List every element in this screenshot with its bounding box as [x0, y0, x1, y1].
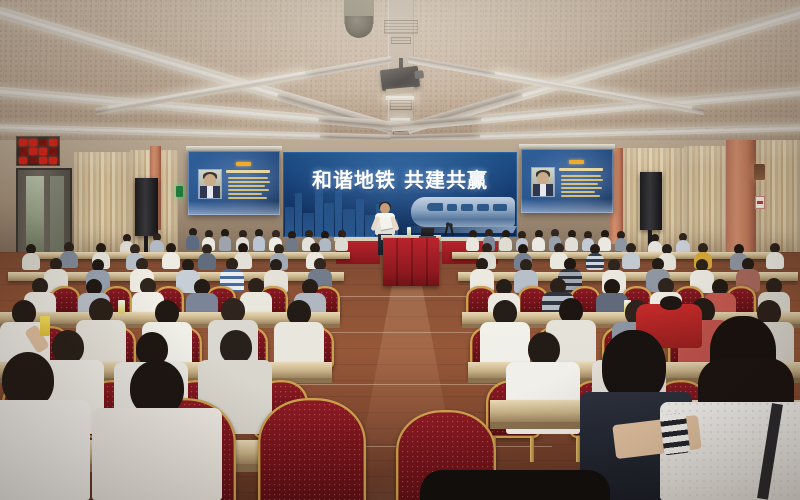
- laptop-base: [419, 236, 436, 238]
- skyline-building: [356, 199, 364, 237]
- torso: [335, 237, 348, 251]
- slide-subtitle-right: [559, 168, 603, 171]
- head: [528, 332, 560, 366]
- metro-window: [427, 203, 443, 211]
- metro-train-body: [411, 197, 515, 227]
- slide-body-line: [228, 197, 267, 199]
- audience-member: [274, 300, 324, 368]
- torso: [253, 236, 265, 251]
- slide-portrait-photo-left: [199, 170, 221, 198]
- loudspeaker-left: [135, 178, 158, 236]
- torso: [92, 408, 222, 500]
- led-segment: [29, 157, 37, 164]
- portrait-shirt: [540, 184, 546, 196]
- audience-member: [766, 243, 784, 269]
- led-segment: [19, 139, 27, 146]
- metro-window: [447, 204, 457, 211]
- laptop-screen: [421, 228, 435, 236]
- led-segment: [19, 148, 27, 155]
- slide-subtitle-left: [226, 170, 270, 173]
- metro-window: [461, 204, 473, 211]
- chair-back: [258, 398, 366, 500]
- audience-member-foreground-silhouette: [420, 470, 610, 500]
- slide-title-left: [236, 162, 251, 166]
- audience-member-foreground-left: [0, 352, 90, 500]
- metro-window: [477, 204, 489, 211]
- audience-member: [219, 229, 231, 251]
- led-segment: [39, 148, 47, 155]
- slide-title-right: [569, 160, 584, 164]
- head: [660, 296, 682, 310]
- table-row-far-right: [452, 252, 772, 259]
- audience-member-foreground-center: [92, 360, 222, 500]
- led-segment: [39, 157, 47, 164]
- torso: [499, 237, 512, 251]
- projection-screen-right: [521, 149, 613, 213]
- exit-indicator-icon: [176, 186, 183, 197]
- portrait-face: [204, 174, 216, 187]
- led-segment: [29, 139, 37, 146]
- slide-body-line: [561, 191, 595, 193]
- led-row-3: [19, 157, 57, 164]
- aisle-seam: [320, 332, 492, 333]
- skirt-fold: [426, 238, 428, 286]
- led-row-1: [19, 139, 57, 146]
- conference-hall-photo: 和谐地铁 共建共赢: [0, 0, 800, 500]
- banquet-chair-foreground[interactable]: [258, 398, 366, 500]
- torso: [219, 236, 231, 251]
- slide-body-line: [561, 175, 601, 177]
- led-row-2: [19, 148, 57, 155]
- torso: [22, 253, 40, 270]
- skirt-fold: [396, 238, 398, 286]
- slide-body-line: [561, 183, 598, 185]
- slide-body-line: [228, 177, 268, 179]
- torso: [766, 252, 784, 269]
- torso: [532, 237, 545, 251]
- skirt-fold: [411, 238, 413, 286]
- slide-body-line: [561, 195, 600, 197]
- table-row-far-left: [30, 252, 350, 259]
- banner-headline: 和谐地铁 共建共赢: [283, 164, 517, 193]
- ceiling-shading: [0, 0, 800, 152]
- audience-member: [532, 230, 545, 251]
- led-segment: [49, 139, 57, 146]
- led-segment: [29, 148, 37, 155]
- audience-member-foreground-woman: [660, 316, 800, 500]
- slide-body-line: [561, 179, 603, 181]
- sleeve-stripe: [660, 413, 691, 456]
- aisle-seam: [340, 296, 470, 297]
- led-sign: [16, 136, 60, 166]
- head: [220, 330, 252, 364]
- audience-member: [198, 244, 216, 270]
- wall-sconce: [754, 164, 765, 180]
- audience-member: [499, 230, 512, 251]
- loudspeaker-right: [640, 172, 662, 230]
- slide-footer-band-left: [188, 201, 280, 215]
- banner-metro-train-graphic: [399, 187, 515, 233]
- led-segment: [49, 157, 57, 164]
- curtain-right-far: [684, 146, 728, 256]
- water-bottle-stage: [407, 227, 411, 237]
- portrait-shirt: [207, 186, 213, 198]
- torso: [198, 253, 216, 270]
- audience-member: [335, 230, 348, 251]
- audience-member: [22, 244, 40, 270]
- audience-member: [676, 233, 690, 254]
- wall-sign: [755, 196, 765, 209]
- audience-member: [253, 229, 265, 251]
- ceiling: [0, 0, 800, 152]
- slide-body-line: [228, 181, 270, 183]
- slide-footer-band-right: [521, 199, 613, 213]
- metro-window: [493, 204, 507, 211]
- main-stage-banner: 和谐地铁 共建共赢: [283, 152, 517, 237]
- led-segment: [39, 139, 47, 146]
- door-glass-panel: [26, 176, 44, 254]
- torso: [420, 470, 610, 500]
- led-segment: [19, 157, 27, 164]
- head-table-skirt: [383, 238, 439, 286]
- led-segment: [49, 148, 57, 155]
- pillar-right: [726, 140, 756, 258]
- slide-body-line: [228, 189, 269, 191]
- presenter-documents: [379, 218, 393, 230]
- slide-body-line: [561, 187, 602, 189]
- slide-body-line: [228, 185, 265, 187]
- projection-screen-left: [188, 151, 280, 215]
- portrait-face: [537, 172, 549, 185]
- slide-body-line: [228, 193, 262, 195]
- slide-portrait-photo-right: [532, 168, 554, 196]
- torso: [0, 400, 90, 500]
- presenter-laptop: [419, 228, 435, 238]
- chair-leg: [530, 436, 534, 462]
